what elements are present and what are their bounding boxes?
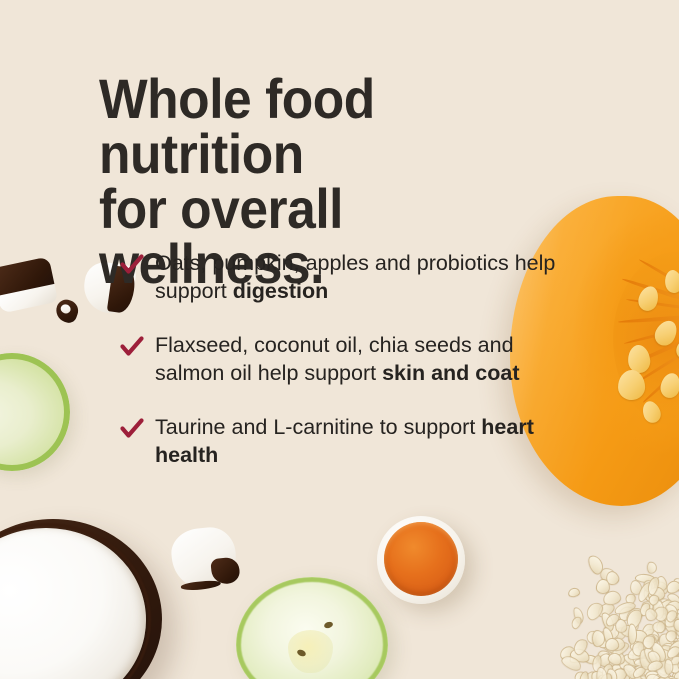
check-icon	[120, 418, 144, 440]
benefits-list: Oats, pumpkin, apples and probiotics hel…	[120, 250, 580, 470]
apple-slice-image	[0, 353, 70, 471]
oat-flake	[652, 621, 665, 633]
list-item-text: Taurine and L-carnitine to support	[155, 415, 481, 439]
oil-surface	[384, 522, 458, 596]
oat-flake	[647, 562, 657, 575]
check-icon	[120, 254, 144, 276]
list-item: Flaxseed, coconut oil, chia seeds and sa…	[120, 332, 580, 388]
oat-flake	[595, 578, 609, 594]
apple-skin	[0, 353, 70, 471]
coconut-chunk-image	[169, 525, 239, 591]
promo-graphic: Whole food nutrition for overall wellnes…	[0, 0, 679, 679]
oats-pile-image	[520, 505, 679, 679]
coconut-half-image	[0, 519, 162, 679]
list-item-text: Oats, pumpkin, apples and probiotics hel…	[155, 251, 555, 303]
coconut-husk-edge	[0, 523, 151, 679]
list-item: Taurine and L-carnitine to support heart…	[120, 414, 580, 470]
oat-flake	[567, 587, 581, 598]
coconut-chunk-image	[0, 256, 58, 313]
list-item-highlight: skin and coat	[382, 361, 519, 385]
oil-bowl-image	[377, 516, 465, 604]
list-item-highlight: digestion	[233, 279, 329, 303]
apple-half-image	[236, 577, 388, 679]
list-item: Oats, pumpkin, apples and probiotics hel…	[120, 250, 580, 306]
oat-flake	[592, 630, 605, 647]
oat-flake	[569, 615, 583, 631]
check-icon	[120, 336, 144, 358]
